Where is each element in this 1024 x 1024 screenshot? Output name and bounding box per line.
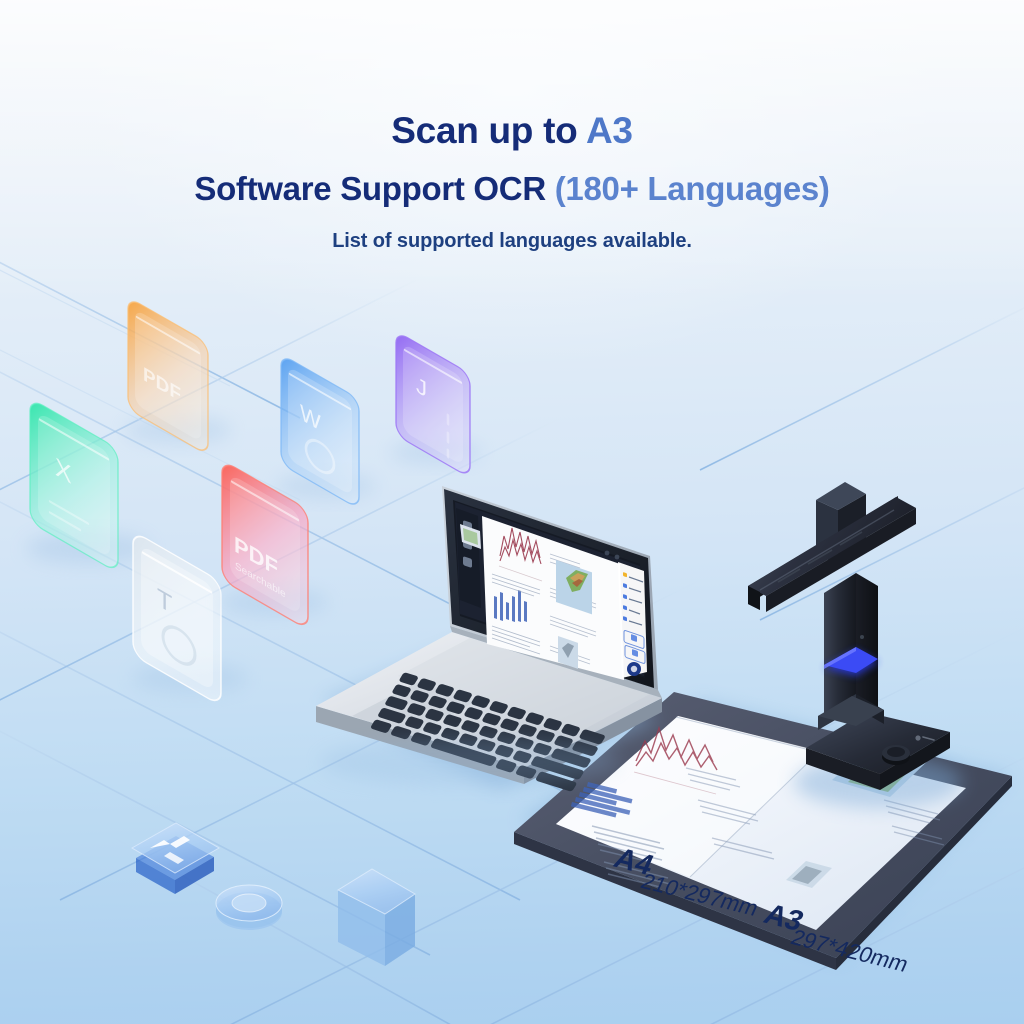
format-cards-group: X PDF <box>26 297 482 706</box>
glass-props-group <box>132 823 415 966</box>
product-marketing-image: Scan up to A3 Software Support OCR (180+… <box>0 0 1024 1024</box>
glass-ring <box>216 885 282 930</box>
power-button[interactable] <box>882 745 910 765</box>
product-scene: X PDF <box>0 0 1024 1024</box>
word-card: W <box>276 354 376 509</box>
pdf-card: PDF <box>124 297 232 455</box>
glass-cube <box>338 869 415 966</box>
glass-plus-tile <box>132 823 219 894</box>
jpg-card: J <box>390 331 482 478</box>
